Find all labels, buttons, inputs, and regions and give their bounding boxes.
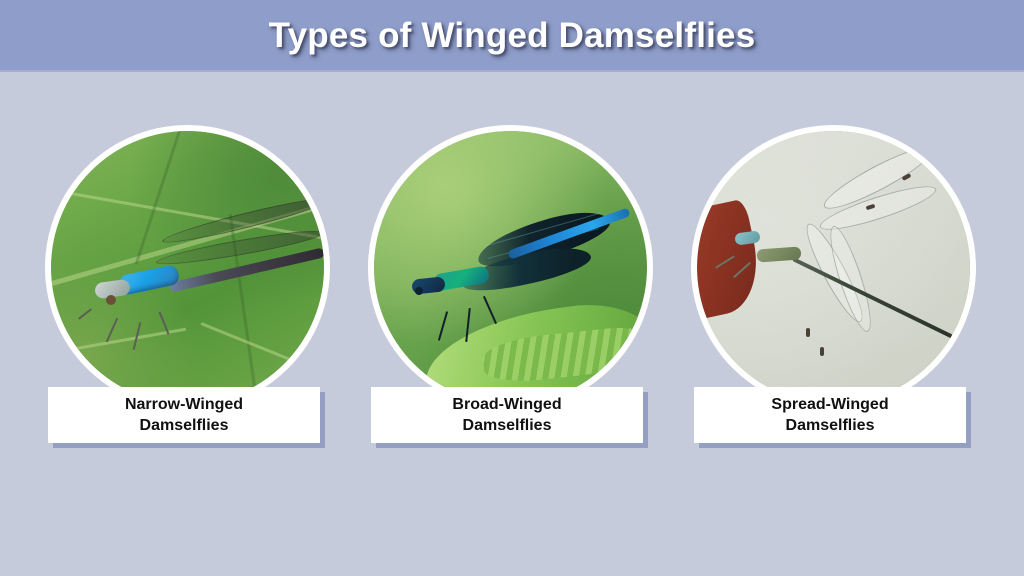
photo-circle-broad-winged[interactable] [368, 125, 653, 410]
leaf-background [51, 131, 324, 404]
card-narrow-winged[interactable]: Narrow-Winged Damselflies [37, 110, 337, 460]
damselfly-eye [106, 295, 116, 305]
photo-narrow-winged [51, 131, 324, 404]
damselfly-eye [415, 287, 423, 295]
photo-circle-spread-winged[interactable] [691, 125, 976, 410]
page-title: Types of Winged Damselflies [269, 16, 756, 56]
photo-circle-narrow-winged[interactable] [45, 125, 330, 410]
photo-broad-winged [374, 131, 647, 404]
caption-card-broad-winged[interactable]: Broad-Winged Damselflies [371, 387, 643, 443]
wing-spot [806, 328, 810, 337]
photo-spread-winged [697, 131, 970, 404]
wing-spot [820, 347, 824, 356]
title-banner: Types of Winged Damselflies [0, 0, 1024, 72]
caption-line-2: Damselflies [786, 415, 875, 436]
caption-line-1: Narrow-Winged [125, 394, 243, 415]
caption-card-narrow-winged[interactable]: Narrow-Winged Damselflies [48, 387, 320, 443]
card-spread-winged[interactable]: Spread-Winged Damselflies [683, 110, 983, 460]
caption-line-2: Damselflies [140, 415, 229, 436]
caption-line-1: Broad-Winged [452, 394, 561, 415]
caption-line-1: Spread-Winged [771, 394, 888, 415]
card-broad-winged[interactable]: Broad-Winged Damselflies [360, 110, 660, 460]
slide-root: Types of Winged Damselflies [0, 0, 1024, 576]
caption-card-spread-winged[interactable]: Spread-Winged Damselflies [694, 387, 966, 443]
caption-line-2: Damselflies [463, 415, 552, 436]
